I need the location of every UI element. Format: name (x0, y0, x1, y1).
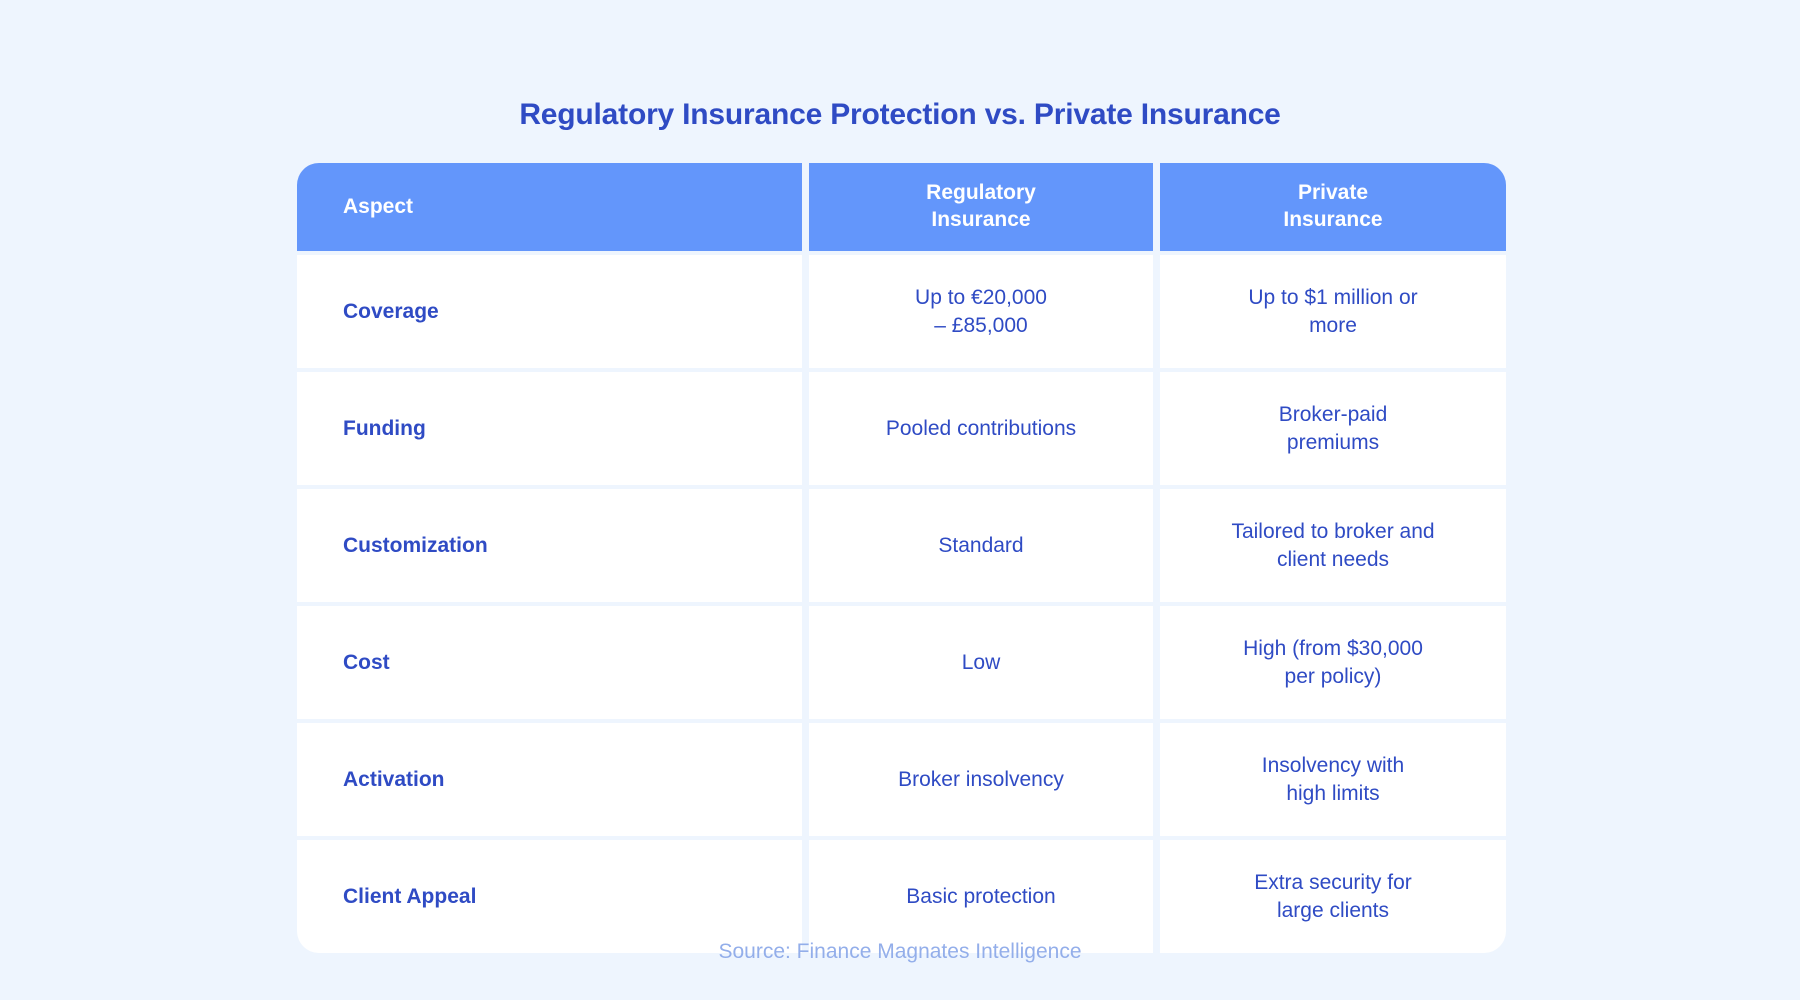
column-header-private-line2: Insurance (1283, 207, 1382, 234)
cell-regulatory: Broker insolvency (809, 723, 1153, 836)
page-title: Regulatory Insurance Protection vs. Priv… (0, 98, 1800, 132)
cell-private-value: Tailored to broker and client needs (1231, 518, 1434, 574)
column-header-regulatory-line1: Regulatory (926, 180, 1036, 207)
table-row: Coverage Up to €20,000 – £85,000 Up to $… (297, 255, 1502, 368)
cell-regulatory: Pooled contributions (809, 372, 1153, 485)
cell-regulatory-line1: Low (962, 649, 1001, 677)
cell-private-line2: high limits (1262, 780, 1404, 808)
cell-private-line1: Broker-paid (1279, 401, 1388, 429)
cell-aspect: Coverage (297, 255, 802, 368)
cell-regulatory-line1: Up to €20,000 (915, 284, 1047, 312)
table-row: Funding Pooled contributions Broker-paid… (297, 372, 1502, 485)
cell-private-line1: Extra security for (1254, 869, 1412, 897)
column-header-private-line1: Private (1283, 180, 1382, 207)
table-row: Customization Standard Tailored to broke… (297, 489, 1502, 602)
column-header-aspect-label: Aspect (343, 194, 413, 221)
cell-regulatory-line2: – £85,000 (915, 312, 1047, 340)
cell-private-line1: High (from $30,000 (1243, 635, 1423, 663)
cell-aspect: Customization (297, 489, 802, 602)
source-attribution: Source: Finance Magnates Intelligence (0, 940, 1800, 964)
cell-regulatory-line1: Basic protection (906, 883, 1055, 911)
column-header-private-insurance: Private Insurance (1160, 163, 1506, 251)
column-header-aspect: Aspect (297, 163, 802, 251)
cell-private-line1: Up to $1 million or (1248, 284, 1417, 312)
cell-aspect-label: Activation (343, 766, 445, 794)
cell-regulatory: Up to €20,000 – £85,000 (809, 255, 1153, 368)
cell-regulatory-value: Standard (938, 532, 1023, 560)
cell-private-line2: per policy) (1243, 663, 1423, 691)
cell-aspect: Client Appeal (297, 840, 802, 953)
cell-aspect: Cost (297, 606, 802, 719)
cell-private: Broker-paid premiums (1160, 372, 1506, 485)
cell-aspect: Activation (297, 723, 802, 836)
column-header-regulatory-line2: Insurance (926, 207, 1036, 234)
column-header-private-insurance-label: Private Insurance (1283, 180, 1382, 234)
cell-regulatory-line1: Standard (938, 532, 1023, 560)
table-header-row: Aspect Regulatory Insurance Private Insu… (297, 163, 1502, 251)
cell-aspect-label: Cost (343, 649, 390, 677)
table-row: Cost Low High (from $30,000 per policy) (297, 606, 1502, 719)
cell-aspect: Funding (297, 372, 802, 485)
cell-aspect-label: Customization (343, 532, 488, 560)
cell-private-line2: client needs (1231, 546, 1434, 574)
cell-private-line2: more (1248, 312, 1417, 340)
cell-private-line2: large clients (1254, 897, 1412, 925)
comparison-table: Aspect Regulatory Insurance Private Insu… (297, 163, 1502, 953)
cell-private: Up to $1 million or more (1160, 255, 1506, 368)
cell-private: Tailored to broker and client needs (1160, 489, 1506, 602)
cell-private: High (from $30,000 per policy) (1160, 606, 1506, 719)
cell-private: Extra security for large clients (1160, 840, 1506, 953)
cell-regulatory: Basic protection (809, 840, 1153, 953)
cell-regulatory-value: Up to €20,000 – £85,000 (915, 284, 1047, 340)
table-row: Client Appeal Basic protection Extra sec… (297, 840, 1502, 953)
cell-regulatory-value: Basic protection (906, 883, 1055, 911)
cell-regulatory-value: Low (962, 649, 1001, 677)
cell-private: Insolvency with high limits (1160, 723, 1506, 836)
cell-regulatory: Standard (809, 489, 1153, 602)
cell-private-value: Up to $1 million or more (1248, 284, 1417, 340)
cell-regulatory-line1: Broker insolvency (898, 766, 1064, 794)
cell-private-line1: Tailored to broker and (1231, 518, 1434, 546)
column-header-regulatory-insurance: Regulatory Insurance (809, 163, 1153, 251)
cell-private-value: High (from $30,000 per policy) (1243, 635, 1423, 691)
cell-private-line2: premiums (1279, 429, 1388, 457)
cell-regulatory-value: Pooled contributions (886, 415, 1076, 443)
cell-aspect-label: Funding (343, 415, 426, 443)
table-row: Activation Broker insolvency Insolvency … (297, 723, 1502, 836)
column-header-regulatory-insurance-label: Regulatory Insurance (926, 180, 1036, 234)
cell-regulatory-line1: Pooled contributions (886, 415, 1076, 443)
cell-private-value: Extra security for large clients (1254, 869, 1412, 925)
cell-private-value: Insolvency with high limits (1262, 752, 1404, 808)
cell-regulatory-value: Broker insolvency (898, 766, 1064, 794)
cell-private-value: Broker-paid premiums (1279, 401, 1388, 457)
cell-regulatory: Low (809, 606, 1153, 719)
cell-aspect-label: Client Appeal (343, 883, 476, 911)
cell-aspect-label: Coverage (343, 298, 439, 326)
infographic-table-page: Regulatory Insurance Protection vs. Priv… (0, 0, 1800, 1000)
cell-private-line1: Insolvency with (1262, 752, 1404, 780)
